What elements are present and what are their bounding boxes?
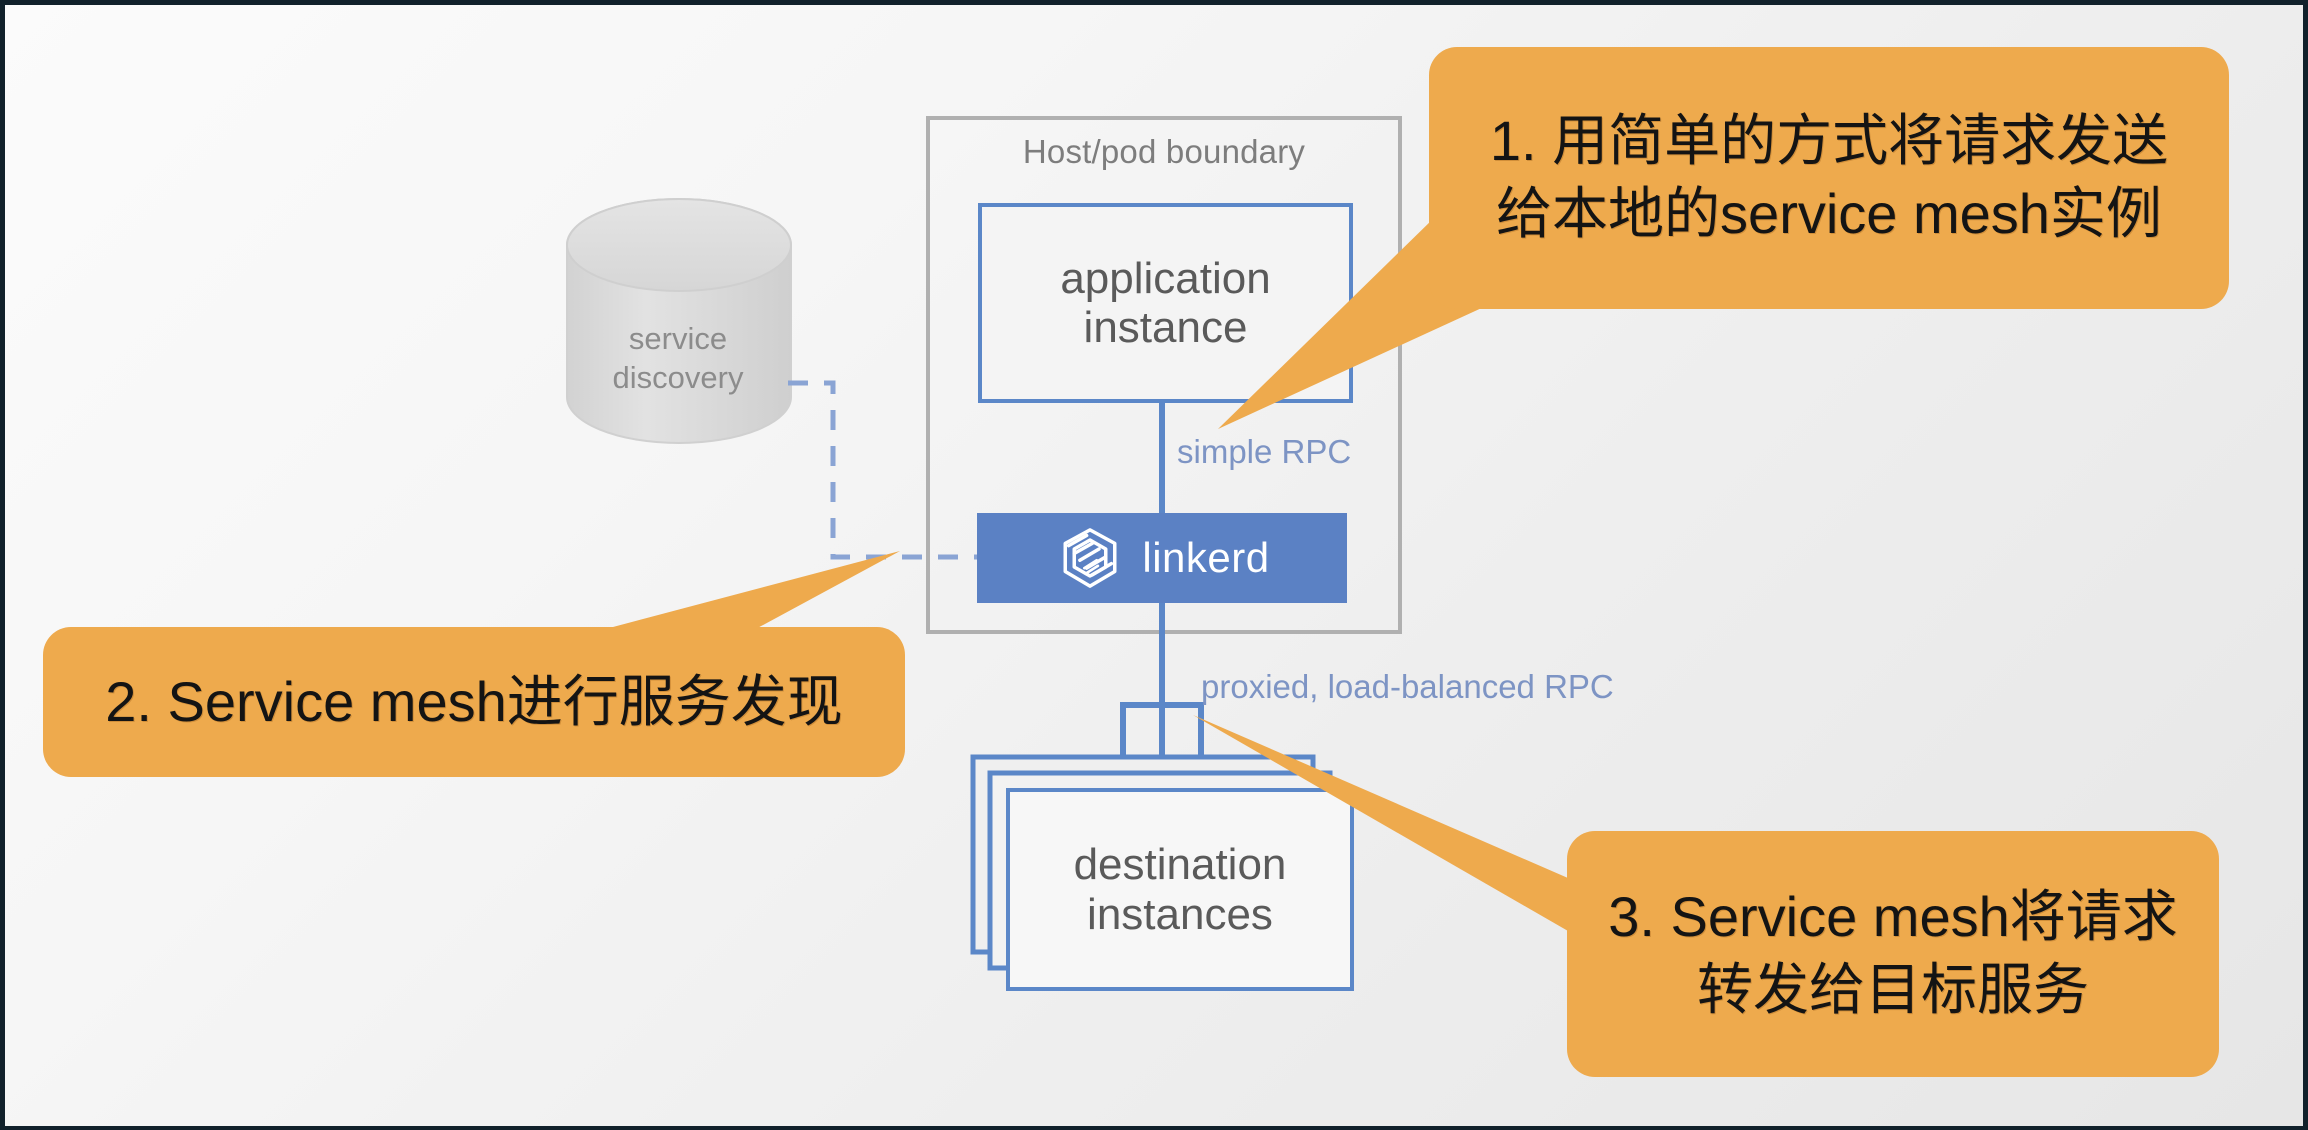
callout-1-line2: 给本地的service mesh实例: [1496, 182, 2162, 245]
callout-2-line1: 2. Service mesh进行服务发现: [105, 670, 843, 733]
slide-canvas: Host/pod boundary application instance s…: [5, 5, 2303, 1126]
callout-3-tail: [1193, 715, 1630, 965]
callout-1-line1: 1. 用简单的方式将请求发送: [1490, 109, 2168, 172]
callout-3-line1: 3. Service mesh将请求: [1608, 885, 2178, 948]
callout-3-line2: 转发给目标服务: [1697, 958, 2089, 1021]
callout-3-bubble[interactable]: 3. Service mesh将请求 转发给目标服务: [1567, 831, 2219, 1077]
callout-1-bubble[interactable]: 1. 用简单的方式将请求发送 给本地的service mesh实例: [1429, 47, 2229, 309]
callout-2-text: 2. Service mesh进行服务发现: [105, 666, 843, 739]
callout-1-text: 1. 用简单的方式将请求发送 给本地的service mesh实例: [1490, 105, 2168, 251]
callout-3-text: 3. Service mesh将请求 转发给目标服务: [1608, 881, 2178, 1027]
callout-2-bubble[interactable]: 2. Service mesh进行服务发现: [43, 627, 905, 777]
